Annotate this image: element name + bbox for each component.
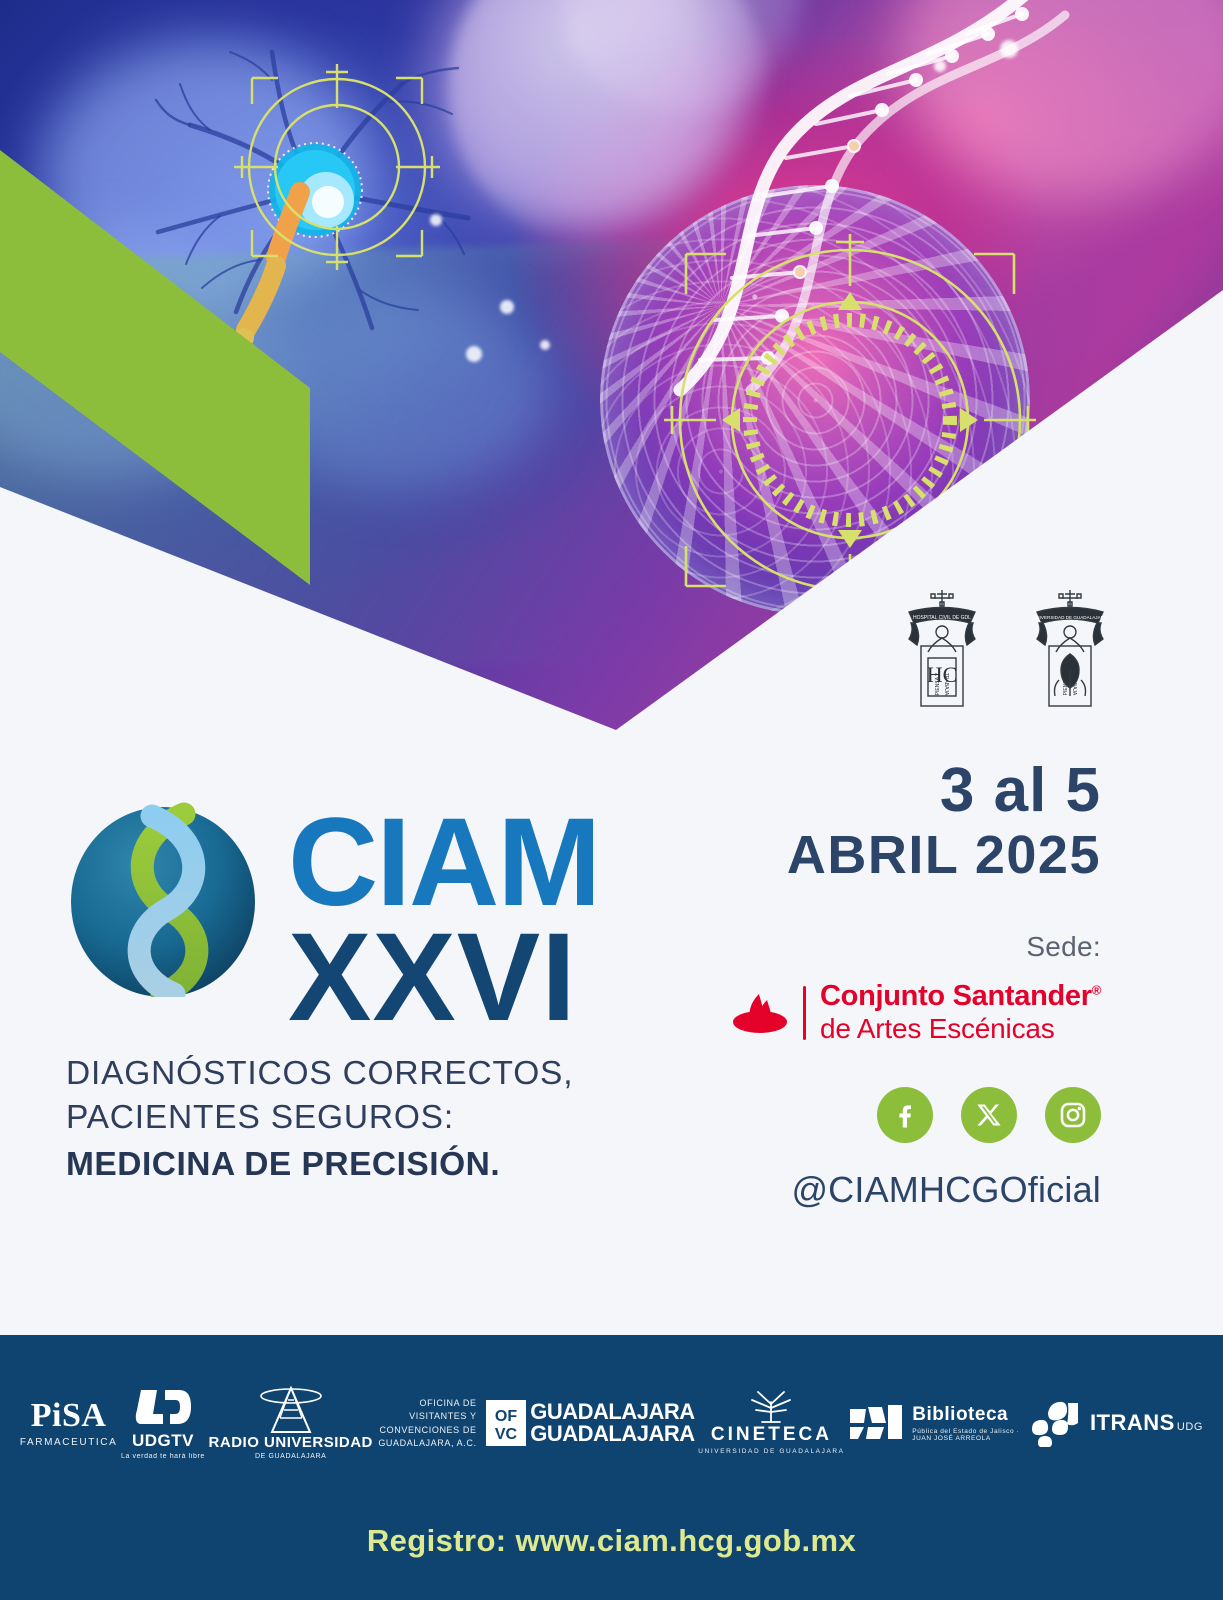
x-twitter-button[interactable] [961,1087,1017,1143]
venue-name-line-2: de Artes Escénicas [820,1013,1101,1045]
light-spark [934,60,946,72]
poster: HC PIENSA Y TRABAJA HOSPITAL CIVIL DE GD… [0,0,1223,1600]
svg-text:UNIVERSIDAD DE GUADALAJARA: UNIVERSIDAD DE GUADALAJARA [1033,615,1108,620]
institution-seals: HC PIENSA Y TRABAJA HOSPITAL CIVIL DE GD… [901,588,1111,710]
ciam-globe-helix-logo [66,802,266,997]
light-spark [540,340,550,350]
itrans-mark-icon [1026,1399,1082,1447]
guadalajara-guadalajara-logo: GUADALAJARA GUADALAJARA [530,1401,694,1445]
venue-name: Conjunto Santander® de Artes Escénicas [820,981,1101,1045]
udgtv-logo: UDGTV La verdad te hará libre [121,1386,205,1460]
event-info: 3 al 5 ABRIL 2025 Sede: Conjunto Santand… [641,758,1101,1211]
ofvc-logo: OFICINA DE VISITANTES Y CONVENCIONES DE … [377,1395,527,1449]
itrans-udg-logo: ITRANS UDG [1026,1399,1203,1447]
registration-url[interactable]: Registro: www.ciam.hcg.gob.mx [0,1523,1223,1559]
radio-tower-icon [258,1386,324,1434]
venue-logo: Conjunto Santander® de Artes Escénicas [641,981,1101,1045]
svg-text:VC: VC [494,1426,517,1443]
footer: PiSA FARMACEUTICA UDGTV La verdad te har… [0,1335,1223,1600]
biblioteca-mark-icon [848,1403,904,1443]
svg-text:PIENSA Y: PIENSA Y [1063,672,1069,695]
radio-universidad-logo: RADIO UNIVERSIDAD DE GUADALAJARA [209,1386,373,1460]
tagline-line-2: PACIENTES SEGUROS: [66,1096,686,1140]
x-twitter-icon [975,1101,1003,1129]
svg-text:PIENSA Y: PIENSA Y [935,672,941,695]
svg-text:TRABAJA: TRABAJA [1071,673,1077,696]
brand-lockup: CIAM XXVI [66,802,599,1035]
wordmark: CIAM XXVI [288,802,599,1035]
social-links[interactable] [641,1087,1101,1143]
venue-name-line-1: Conjunto Santander® [820,981,1101,1013]
tagline-line-1: DIAGNÓSTICOS CORRECTOS, [66,1052,686,1096]
svg-text:OF: OF [494,1408,516,1425]
udgtv-mark-icon [135,1386,191,1428]
social-handle: @CIAMHCGOficial [641,1169,1101,1211]
cineteca-logo: CINETECA UNIVERSIDAD DE GUADALAJARA [698,1390,844,1455]
facebook-icon [890,1100,920,1130]
svg-text:TRABAJA: TRABAJA [943,673,949,696]
tagline: DIAGNÓSTICOS CORRECTOS, PACIENTES SEGURO… [66,1052,686,1187]
event-days: 3 al 5 [641,758,1101,824]
hospital-civil-seal: HC PIENSA Y TRABAJA HOSPITAL CIVIL DE GD… [901,588,983,710]
light-spark [1000,40,1018,58]
sponsor-logos: PiSA FARMACEUTICA UDGTV La verdad te har… [0,1335,1223,1510]
main-content: CIAM XXVI DIAGNÓSTICOS CORRECTOS, PACIEN… [0,730,1223,1335]
svg-text:HC: HC [927,662,958,687]
svg-text:HOSPITAL CIVIL DE GDL: HOSPITAL CIVIL DE GDL [913,615,971,621]
instagram-button[interactable] [1045,1087,1101,1143]
venue-label: Sede: [641,931,1101,963]
targeting-reticle-icon [232,62,442,272]
ciam-title: CIAM [288,808,599,918]
cineteca-agave-icon [748,1390,794,1424]
biblioteca-juan-jose-arreola-logo: Biblioteca Pública del Estado de Jalisco… [848,1403,1022,1443]
ciam-edition: XXVI [288,920,599,1035]
facebook-button[interactable] [877,1087,933,1143]
santander-flame-icon [731,992,789,1034]
event-month-year: ABRIL 2025 [641,824,1101,888]
light-spark [466,346,482,362]
targeting-reticle-icon [660,230,1040,610]
venue-divider [803,986,806,1040]
light-spark [430,214,442,226]
universidad-de-guadalajara-seal: PIENSA Y TRABAJA UNIVERSIDAD DE GUADALAJ… [1029,588,1111,710]
light-spark [500,300,514,314]
pisa-farmaceutica-logo: PiSA FARMACEUTICA [20,1397,118,1448]
instagram-icon [1058,1100,1088,1130]
tagline-line-3: MEDICINA DE PRECISIÓN. [66,1143,686,1187]
ofvc-mark-icon: OF VC [485,1399,527,1447]
